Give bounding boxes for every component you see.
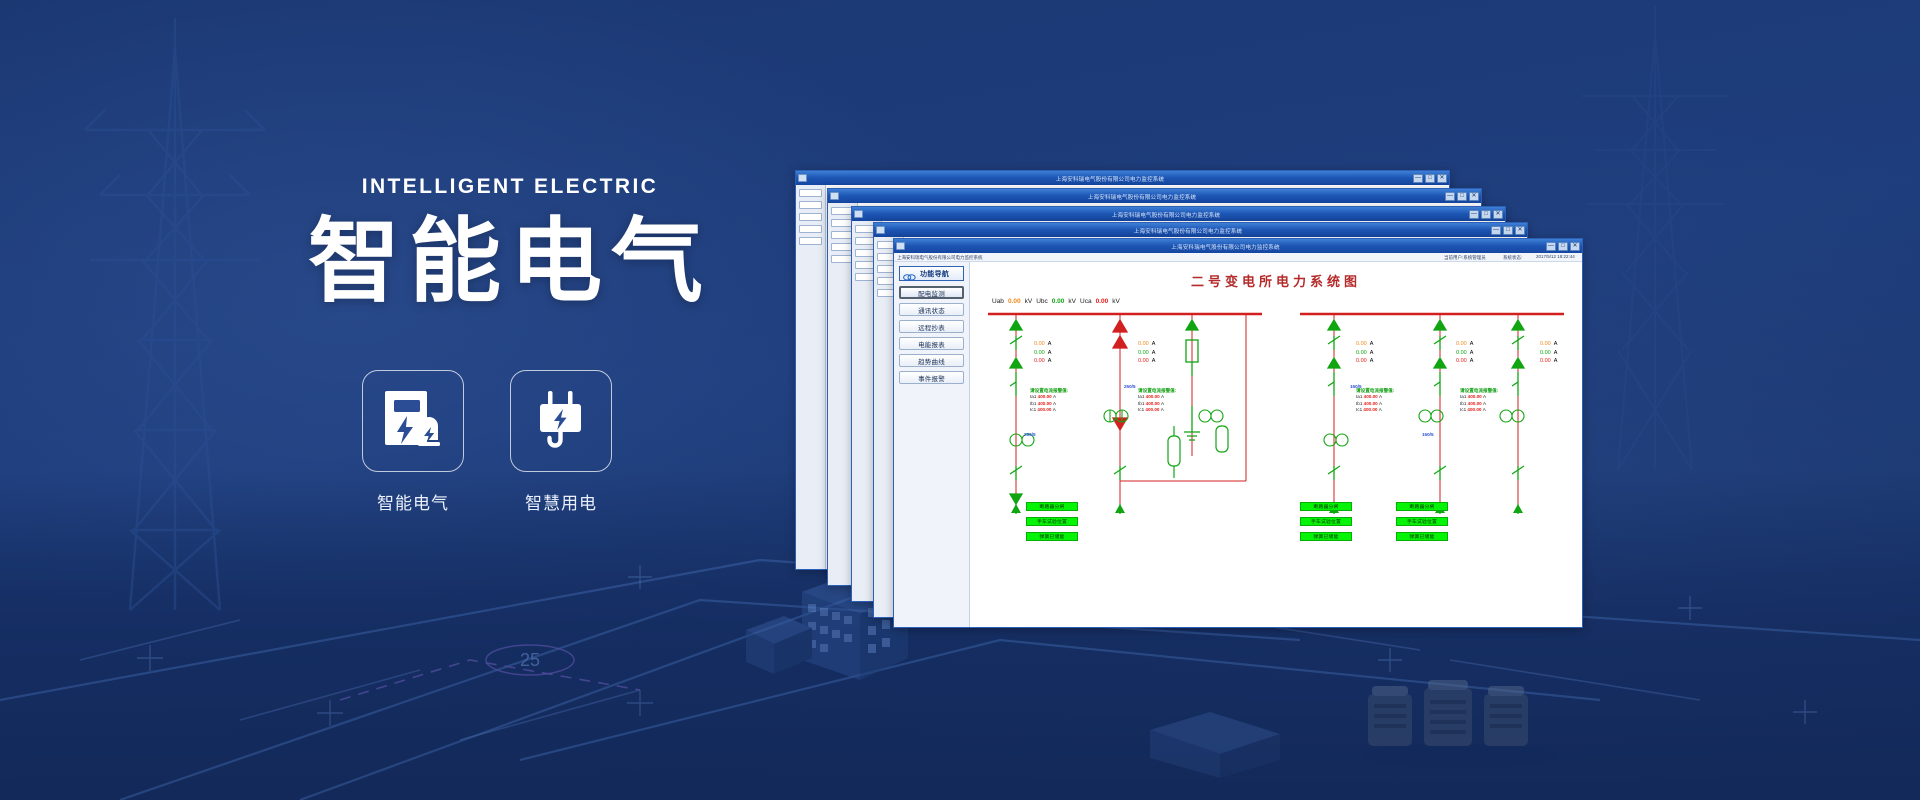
feature-list: 智能电气 智慧用电 xyxy=(300,370,820,514)
alarm-label-ic1: Ic1 xyxy=(1460,407,1466,412)
current-unit-a: A xyxy=(1554,341,1558,347)
book-nav-icon xyxy=(903,269,916,278)
current-value-c: 0.00 xyxy=(1456,358,1467,364)
current-unit-b: A xyxy=(1370,350,1374,356)
close-button[interactable]: ✕ xyxy=(1469,192,1479,201)
current-unit-b: A xyxy=(1554,350,1558,356)
alarm-label-ib1: Ib1 xyxy=(1138,401,1144,406)
svg-text:25: 25 xyxy=(520,650,540,670)
feature-icon-box xyxy=(510,370,612,472)
alarm-setting-block-4: 请设置电流报警值: Ia1 400.00 A Ib1 400.00 A Ic1 … xyxy=(1460,388,1498,414)
window-titlebar[interactable]: 上海安科瑞电气股份有限公司电力监控系统 — □ ✕ xyxy=(828,189,1481,203)
minimize-button[interactable]: — xyxy=(1445,192,1455,201)
current-value-b: 0.00 xyxy=(1356,350,1367,356)
voltage-unit-ubc: kV xyxy=(1068,298,1076,305)
alarm-unit-ib1: A xyxy=(1379,401,1382,406)
close-button[interactable]: ✕ xyxy=(1515,226,1525,235)
status-button-breaker-open-1[interactable]: 断路器分闸 xyxy=(1026,502,1078,511)
current-value-b: 0.00 xyxy=(1138,350,1149,356)
alarm-value-ib1: 400.00 xyxy=(1364,401,1378,406)
window-titlebar[interactable]: 上海安科瑞电气股份有限公司电力监控系统 — □ ✕ xyxy=(894,239,1582,253)
alarm-label-ia1: Ia1 xyxy=(1460,394,1466,399)
hero-subtitle: INTELLIGENT ELECTRIC xyxy=(300,175,720,199)
close-button[interactable]: ✕ xyxy=(1570,242,1580,251)
alarm-label-ic1: Ic1 xyxy=(1356,407,1362,412)
alarm-label-ia1: Ia1 xyxy=(1030,394,1036,399)
maximize-button[interactable]: □ xyxy=(1503,226,1513,235)
alarm-unit-ia1: A xyxy=(1053,394,1056,399)
sidebar-item-label: 事件报警 xyxy=(918,373,945,383)
page-title: 智能电气 xyxy=(300,213,720,312)
alarm-label-ic1: Ic1 xyxy=(1030,407,1036,412)
alarm-value-ia1: 400.00 xyxy=(1364,394,1378,399)
current-value-b: 0.00 xyxy=(1540,350,1551,356)
diagram-title: 二号变电所电力系统图 xyxy=(970,271,1582,290)
sld-diagram-canvas[interactable]: 二号变电所电力系统图 Uab 0.00 kV Ubc 0.00 kV Uca 0… xyxy=(970,262,1582,627)
maximize-button[interactable]: □ xyxy=(1558,242,1568,251)
current-unit-a: A xyxy=(1152,341,1156,347)
alarm-value-ib1: 400.00 xyxy=(1468,401,1482,406)
alarm-value-ia1: 400.00 xyxy=(1468,394,1482,399)
current-unit-c: A xyxy=(1152,358,1156,364)
current-value-b: 0.00 xyxy=(1034,350,1045,356)
sidebar-placeholder-item[interactable] xyxy=(799,213,822,221)
sidebar-item-trend-curve[interactable]: 趋势曲线 xyxy=(899,354,964,367)
alarm-label-ic1: Ic1 xyxy=(1138,407,1144,412)
alarm-value-ia1: 400.00 xyxy=(1038,394,1052,399)
function-nav-header: 功能导航 xyxy=(899,266,964,281)
alarm-label-ia1: Ia1 xyxy=(1138,394,1144,399)
sld-svg xyxy=(970,306,1582,627)
active-window[interactable]: 上海安科瑞电气股份有限公司电力监控系统 — □ ✕ 上海安科瑞电气股份有限公司电… xyxy=(893,238,1583,628)
alarm-unit-ic1: A xyxy=(1053,407,1056,412)
current-readout-feeder-4: 0.00 A 0.00 A 0.00 A xyxy=(1456,340,1473,366)
alarm-value-ic1: 400.00 xyxy=(1363,407,1377,412)
alarm-setting-block-1: 请设置电流报警值: Ia1 400.00 A Ib1 400.00 A Ic1 … xyxy=(1030,388,1068,414)
charging-cabinet-icon xyxy=(385,389,441,454)
sidebar-item-energy-report[interactable]: 电能报表 xyxy=(899,337,964,350)
app-icon xyxy=(798,174,807,182)
window-title: 上海安科瑞电气股份有限公司电力监控系统 xyxy=(834,174,1386,182)
window-title: 上海安科瑞电气股份有限公司电力监控系统 xyxy=(866,192,1418,200)
current-value-a: 0.00 xyxy=(1356,341,1367,347)
minimize-button[interactable]: — xyxy=(1546,242,1556,251)
info-timestamp: 2017/5/12 18:22:44 xyxy=(1536,254,1575,259)
current-transformer-symbols xyxy=(1010,410,1524,446)
feature-item-intelligent-electric[interactable]: 智能电气 xyxy=(362,370,464,514)
close-button[interactable]: ✕ xyxy=(1437,174,1447,183)
alarm-setting-block-2: 请设置电流报警值: Ia1 400.00 A Ib1 400.00 A Ic1 … xyxy=(1138,388,1176,414)
alarm-unit-ia1: A xyxy=(1161,394,1164,399)
sidebar-item-power-monitor[interactable]: 配电监测 xyxy=(899,286,964,299)
switchgear-symbols xyxy=(1010,320,1524,440)
sidebar-placeholder-item[interactable] xyxy=(799,225,822,233)
alarm-unit-ic1: A xyxy=(1161,407,1164,412)
window-title: 上海安科瑞电气股份有限公司电力监控系统 xyxy=(890,210,1442,218)
status-button-spring-charged-3[interactable]: 弹簧已储能 xyxy=(1396,532,1448,541)
minimize-button[interactable]: — xyxy=(1491,226,1501,235)
ct-ratio-label-4: 150/5 xyxy=(1422,432,1434,437)
current-value-c: 0.00 xyxy=(1034,358,1045,364)
alarm-setting-block-3: 请设置电流报警值: Ia1 400.00 A Ib1 400.00 A Ic1 … xyxy=(1356,388,1394,414)
alarm-label-ib1: Ib1 xyxy=(1460,401,1466,406)
voltage-value-uca: 0.00 xyxy=(1096,298,1109,305)
feature-label: 智能电气 xyxy=(362,489,464,514)
status-button-truck-test-3[interactable]: 手车试验位置 xyxy=(1396,517,1448,526)
window-main-area: 功能导航 配电监测 通讯状态 远程抄表 电能报表 趋势曲线 xyxy=(894,262,1582,627)
alarm-value-ic1: 400.00 xyxy=(1467,407,1481,412)
feeder-lines xyxy=(1016,314,1518,506)
feature-item-smart-power[interactable]: 智慧用电 xyxy=(510,370,612,514)
hero-section: INTELLIGENT ELECTRIC 智能电气 智能电气 xyxy=(300,175,820,514)
status-button-truck-test-2[interactable]: 手车试验位置 xyxy=(1300,517,1352,526)
current-value-a: 0.00 xyxy=(1138,341,1149,347)
current-value-c: 0.00 xyxy=(1356,358,1367,364)
window-sidebar xyxy=(796,185,826,569)
current-value-a: 0.00 xyxy=(1456,341,1467,347)
info-app-name: 上海安科瑞电气股份有限公司电力监控系统 xyxy=(897,254,983,260)
current-value-c: 0.00 xyxy=(1138,358,1149,364)
window-stack: 上海安科瑞电气股份有限公司电力监控系统 — □ ✕ 上海安科瑞电气股份有限公司电… xyxy=(795,170,1495,650)
voltage-label-uab: Uab xyxy=(992,298,1004,305)
alarm-unit-ic1: A xyxy=(1379,407,1382,412)
status-button-breaker-open-2[interactable]: 断路器分闸 xyxy=(1300,502,1352,511)
window-controls[interactable]: — □ ✕ xyxy=(1469,210,1503,219)
maximize-button[interactable]: □ xyxy=(1481,210,1491,219)
sidebar-placeholder-item[interactable] xyxy=(799,201,822,209)
app-icon xyxy=(830,192,839,200)
feature-label: 智慧用电 xyxy=(510,489,612,514)
sidebar-item-event-alarm[interactable]: 事件报警 xyxy=(899,371,964,384)
current-value-c: 0.00 xyxy=(1540,358,1551,364)
transformer-equipment-icon xyxy=(1350,660,1570,775)
function-nav-sidebar: 功能导航 配电监测 通讯状态 远程抄表 电能报表 趋势曲线 xyxy=(894,262,970,627)
minimize-button[interactable]: — xyxy=(1413,174,1423,183)
alarm-unit-ia1: A xyxy=(1379,394,1382,399)
current-unit-b: A xyxy=(1152,350,1156,356)
current-unit-a: A xyxy=(1048,341,1052,347)
sidebar-item-remote-meter[interactable]: 远程抄表 xyxy=(899,320,964,333)
window-controls[interactable]: — □ ✕ xyxy=(1413,174,1447,183)
alarm-value-ib1: 400.00 xyxy=(1146,401,1160,406)
sidebar-item-label: 通讯状态 xyxy=(918,305,945,315)
function-nav-title: 功能导航 xyxy=(920,269,949,279)
window-title: 上海安科瑞电气股份有限公司电力监控系统 xyxy=(912,226,1464,234)
alarm-unit-ib1: A xyxy=(1161,401,1164,406)
voltage-value-uab: 0.00 xyxy=(1008,298,1021,305)
alarm-value-ic1: 400.00 xyxy=(1145,407,1159,412)
voltage-unit-uca: kV xyxy=(1112,298,1120,305)
equipment-block-icon xyxy=(1140,700,1290,785)
current-value-a: 0.00 xyxy=(1540,341,1551,347)
window-titlebar[interactable]: 上海安科瑞电气股份有限公司电力监控系统 — □ ✕ xyxy=(796,171,1449,185)
sidebar-placeholder-item[interactable] xyxy=(799,237,822,245)
voltage-label-ubc: Ubc xyxy=(1036,298,1048,305)
window-titlebar[interactable]: 上海安科瑞电气股份有限公司电力监控系统 — □ ✕ xyxy=(852,207,1505,221)
current-readout-feeder-3: 0.00 A 0.00 A 0.00 A xyxy=(1356,340,1373,366)
current-value-a: 0.00 xyxy=(1034,341,1045,347)
voltage-label-uca: Uca xyxy=(1080,298,1092,305)
current-readout-feeder-2: 0.00 A 0.00 A 0.00 A xyxy=(1138,340,1155,366)
current-unit-c: A xyxy=(1554,358,1558,364)
power-plug-icon xyxy=(532,389,590,454)
transmission-tower-right-icon xyxy=(1560,0,1750,480)
current-unit-a: A xyxy=(1470,341,1474,347)
current-unit-a: A xyxy=(1370,341,1374,347)
transmission-tower-icon xyxy=(60,10,290,630)
sidebar-placeholder-item[interactable] xyxy=(799,189,822,197)
busbar-voltage-readout: Uab 0.00 kV Ubc 0.00 kV Uca 0.00 kV xyxy=(992,298,1120,305)
alarm-value-ib1: 400.00 xyxy=(1038,401,1052,406)
ct-ratio-label-2: 250/5 xyxy=(1024,432,1036,437)
alarm-unit-ib1: A xyxy=(1053,401,1056,406)
ct-ratio-label-1: 250/5 xyxy=(1124,384,1136,389)
window-title: 上海安科瑞电气股份有限公司电力监控系统 xyxy=(933,242,1517,250)
maximize-button[interactable]: □ xyxy=(1425,174,1435,183)
app-icon xyxy=(854,210,863,218)
maximize-button[interactable]: □ xyxy=(1457,192,1467,201)
alarm-unit-ib1: A xyxy=(1483,401,1486,406)
single-line-diagram xyxy=(970,306,1582,627)
sidebar-item-comm-status[interactable]: 通讯状态 xyxy=(899,303,964,316)
close-button[interactable]: ✕ xyxy=(1493,210,1503,219)
window-body: 上海安科瑞电气股份有限公司电力监控系统 当前用户:系统管理员 系统状态: 201… xyxy=(894,253,1582,627)
status-button-spring-charged-1[interactable]: 弹簧已储能 xyxy=(1026,532,1078,541)
current-unit-c: A xyxy=(1470,358,1474,364)
sidebar-item-label: 电能报表 xyxy=(918,339,945,349)
ct-ratio-label-3: 150/5 xyxy=(1350,384,1362,389)
window-controls[interactable]: — □ ✕ xyxy=(1491,226,1525,235)
window-controls[interactable]: — □ ✕ xyxy=(1445,192,1479,201)
capacitor-bank-symbol xyxy=(1168,426,1228,478)
current-readout-feeder-5: 0.00 A 0.00 A 0.00 A xyxy=(1540,340,1557,366)
status-button-breaker-open-3[interactable]: 断路器分闸 xyxy=(1396,502,1448,511)
status-info-bar: 上海安科瑞电气股份有限公司电力监控系统 当前用户:系统管理员 系统状态: 201… xyxy=(894,253,1582,262)
window-titlebar[interactable]: 上海安科瑞电气股份有限公司电力监控系统 — □ ✕ xyxy=(874,223,1527,237)
info-system-status: 系统状态: xyxy=(1503,254,1522,260)
alarm-label-ib1: Ib1 xyxy=(1356,401,1362,406)
sidebar-item-label: 趋势曲线 xyxy=(918,356,945,366)
app-icon xyxy=(896,242,905,250)
current-unit-b: A xyxy=(1470,350,1474,356)
alarm-label-ib1: Ib1 xyxy=(1030,401,1036,406)
minimize-button[interactable]: — xyxy=(1469,210,1479,219)
current-unit-c: A xyxy=(1370,358,1374,364)
status-button-spring-charged-2[interactable]: 弹簧已储能 xyxy=(1300,532,1352,541)
alarm-value-ic1: 400.00 xyxy=(1037,407,1051,412)
current-unit-c: A xyxy=(1048,358,1052,364)
window-controls[interactable]: — □ ✕ xyxy=(1546,242,1580,251)
voltage-unit-uab: kV xyxy=(1025,298,1033,305)
alarm-unit-ia1: A xyxy=(1483,394,1486,399)
info-current-user: 当前用户:系统管理员 xyxy=(1444,254,1486,260)
alarm-unit-ic1: A xyxy=(1483,407,1486,412)
current-unit-b: A xyxy=(1048,350,1052,356)
voltage-value-ubc: 0.00 xyxy=(1052,298,1065,305)
status-button-truck-test-1[interactable]: 手车试验位置 xyxy=(1026,517,1078,526)
feature-icon-box xyxy=(362,370,464,472)
sidebar-item-label: 配电监测 xyxy=(918,288,945,298)
sidebar-item-label: 远程抄表 xyxy=(918,322,945,332)
app-icon xyxy=(876,226,885,234)
alarm-label-ia1: Ia1 xyxy=(1356,394,1362,399)
current-readout-feeder-1: 0.00 A 0.00 A 0.00 A xyxy=(1034,340,1051,366)
current-value-b: 0.00 xyxy=(1456,350,1467,356)
alarm-value-ia1: 400.00 xyxy=(1146,394,1160,399)
